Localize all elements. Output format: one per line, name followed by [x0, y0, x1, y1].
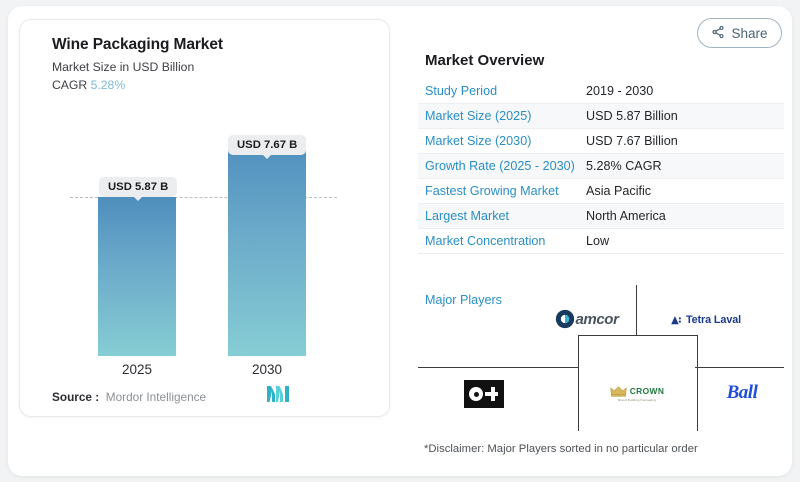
row-key: Largest Market: [418, 209, 586, 223]
row-value: 5.28% CAGR: [586, 159, 662, 173]
bar-chart-plot: USD 5.87 B USD 7.67 B 2025 2030: [19, 19, 388, 415]
oi-mark-icon: [464, 380, 504, 408]
row-value: USD 5.87 Billion: [586, 109, 678, 123]
bar-2030: [228, 139, 306, 356]
row-value: Low: [586, 234, 609, 248]
table-row: Fastest Growing Market Asia Pacific: [418, 179, 784, 204]
major-players-grid: amcor Tetra Laval CROWN: [418, 285, 784, 430]
player-name-crown: CROWN: [630, 386, 665, 396]
tetra-laval-mark-icon: [669, 314, 682, 327]
share-button-label: Share: [731, 26, 767, 41]
player-logo-ball: Ball: [696, 373, 788, 413]
player-logo-tetra-laval: Tetra Laval: [650, 307, 760, 333]
table-row: Market Concentration Low: [418, 229, 784, 254]
disclaimer-text: *Disclaimer: Major Players sorted in no …: [424, 443, 698, 455]
table-row: Largest Market North America: [418, 204, 784, 229]
overview-table: Study Period 2019 - 2030 Market Size (20…: [418, 79, 784, 254]
crown-mark-icon: [610, 385, 627, 397]
player-logo-amcor: amcor: [534, 301, 640, 337]
player-name-tetra-laval: Tetra Laval: [686, 314, 741, 326]
row-key: Market Concentration: [418, 234, 586, 248]
x-axis-label-2025: 2025: [77, 362, 197, 377]
share-nodes-icon: [711, 25, 725, 42]
player-logo-oi: [436, 373, 532, 415]
crown-tagline: Brand Building Packaging: [618, 398, 656, 402]
row-key: Growth Rate (2025 - 2030): [418, 159, 586, 173]
table-row: Market Size (2030) USD 7.67 Billion: [418, 129, 784, 154]
player-name-ball: Ball: [727, 382, 758, 404]
x-axis-label-2030: 2030: [207, 362, 327, 377]
player-logo-crown: CROWN Brand Building Packaging: [584, 373, 690, 413]
table-row: Market Size (2025) USD 5.87 Billion: [418, 104, 784, 129]
row-key: Market Size (2025): [418, 109, 586, 123]
row-value: 2019 - 2030: [586, 84, 653, 98]
bar-value-label-2030: USD 7.67 B: [228, 135, 306, 155]
market-report-card: Share Wine Packaging Market Market Size …: [0, 0, 800, 482]
row-value: North America: [586, 209, 666, 223]
player-name-amcor: amcor: [575, 311, 618, 328]
source-label: Source :: [52, 390, 99, 404]
table-row: Study Period 2019 - 2030: [418, 79, 784, 104]
row-key: Market Size (2030): [418, 134, 586, 148]
bars-layer: [19, 19, 388, 356]
row-value: Asia Pacific: [586, 184, 651, 198]
bar-2025: [98, 197, 176, 356]
source-name: Mordor Intelligence: [106, 390, 206, 404]
overview-title: Market Overview: [425, 52, 544, 69]
row-key: Fastest Growing Market: [418, 184, 586, 198]
table-row: Growth Rate (2025 - 2030) 5.28% CAGR: [418, 154, 784, 179]
row-value: USD 7.67 Billion: [586, 134, 678, 148]
grid-mask: [579, 367, 695, 368]
amcor-mark-icon: [555, 309, 575, 329]
share-button[interactable]: Share: [697, 18, 782, 48]
bar-value-label-2025: USD 5.87 B: [99, 177, 177, 197]
source-line: Source : Mordor Intelligence: [52, 390, 206, 404]
row-key: Study Period: [418, 84, 586, 98]
mordor-intelligence-logo-icon: [267, 386, 289, 407]
